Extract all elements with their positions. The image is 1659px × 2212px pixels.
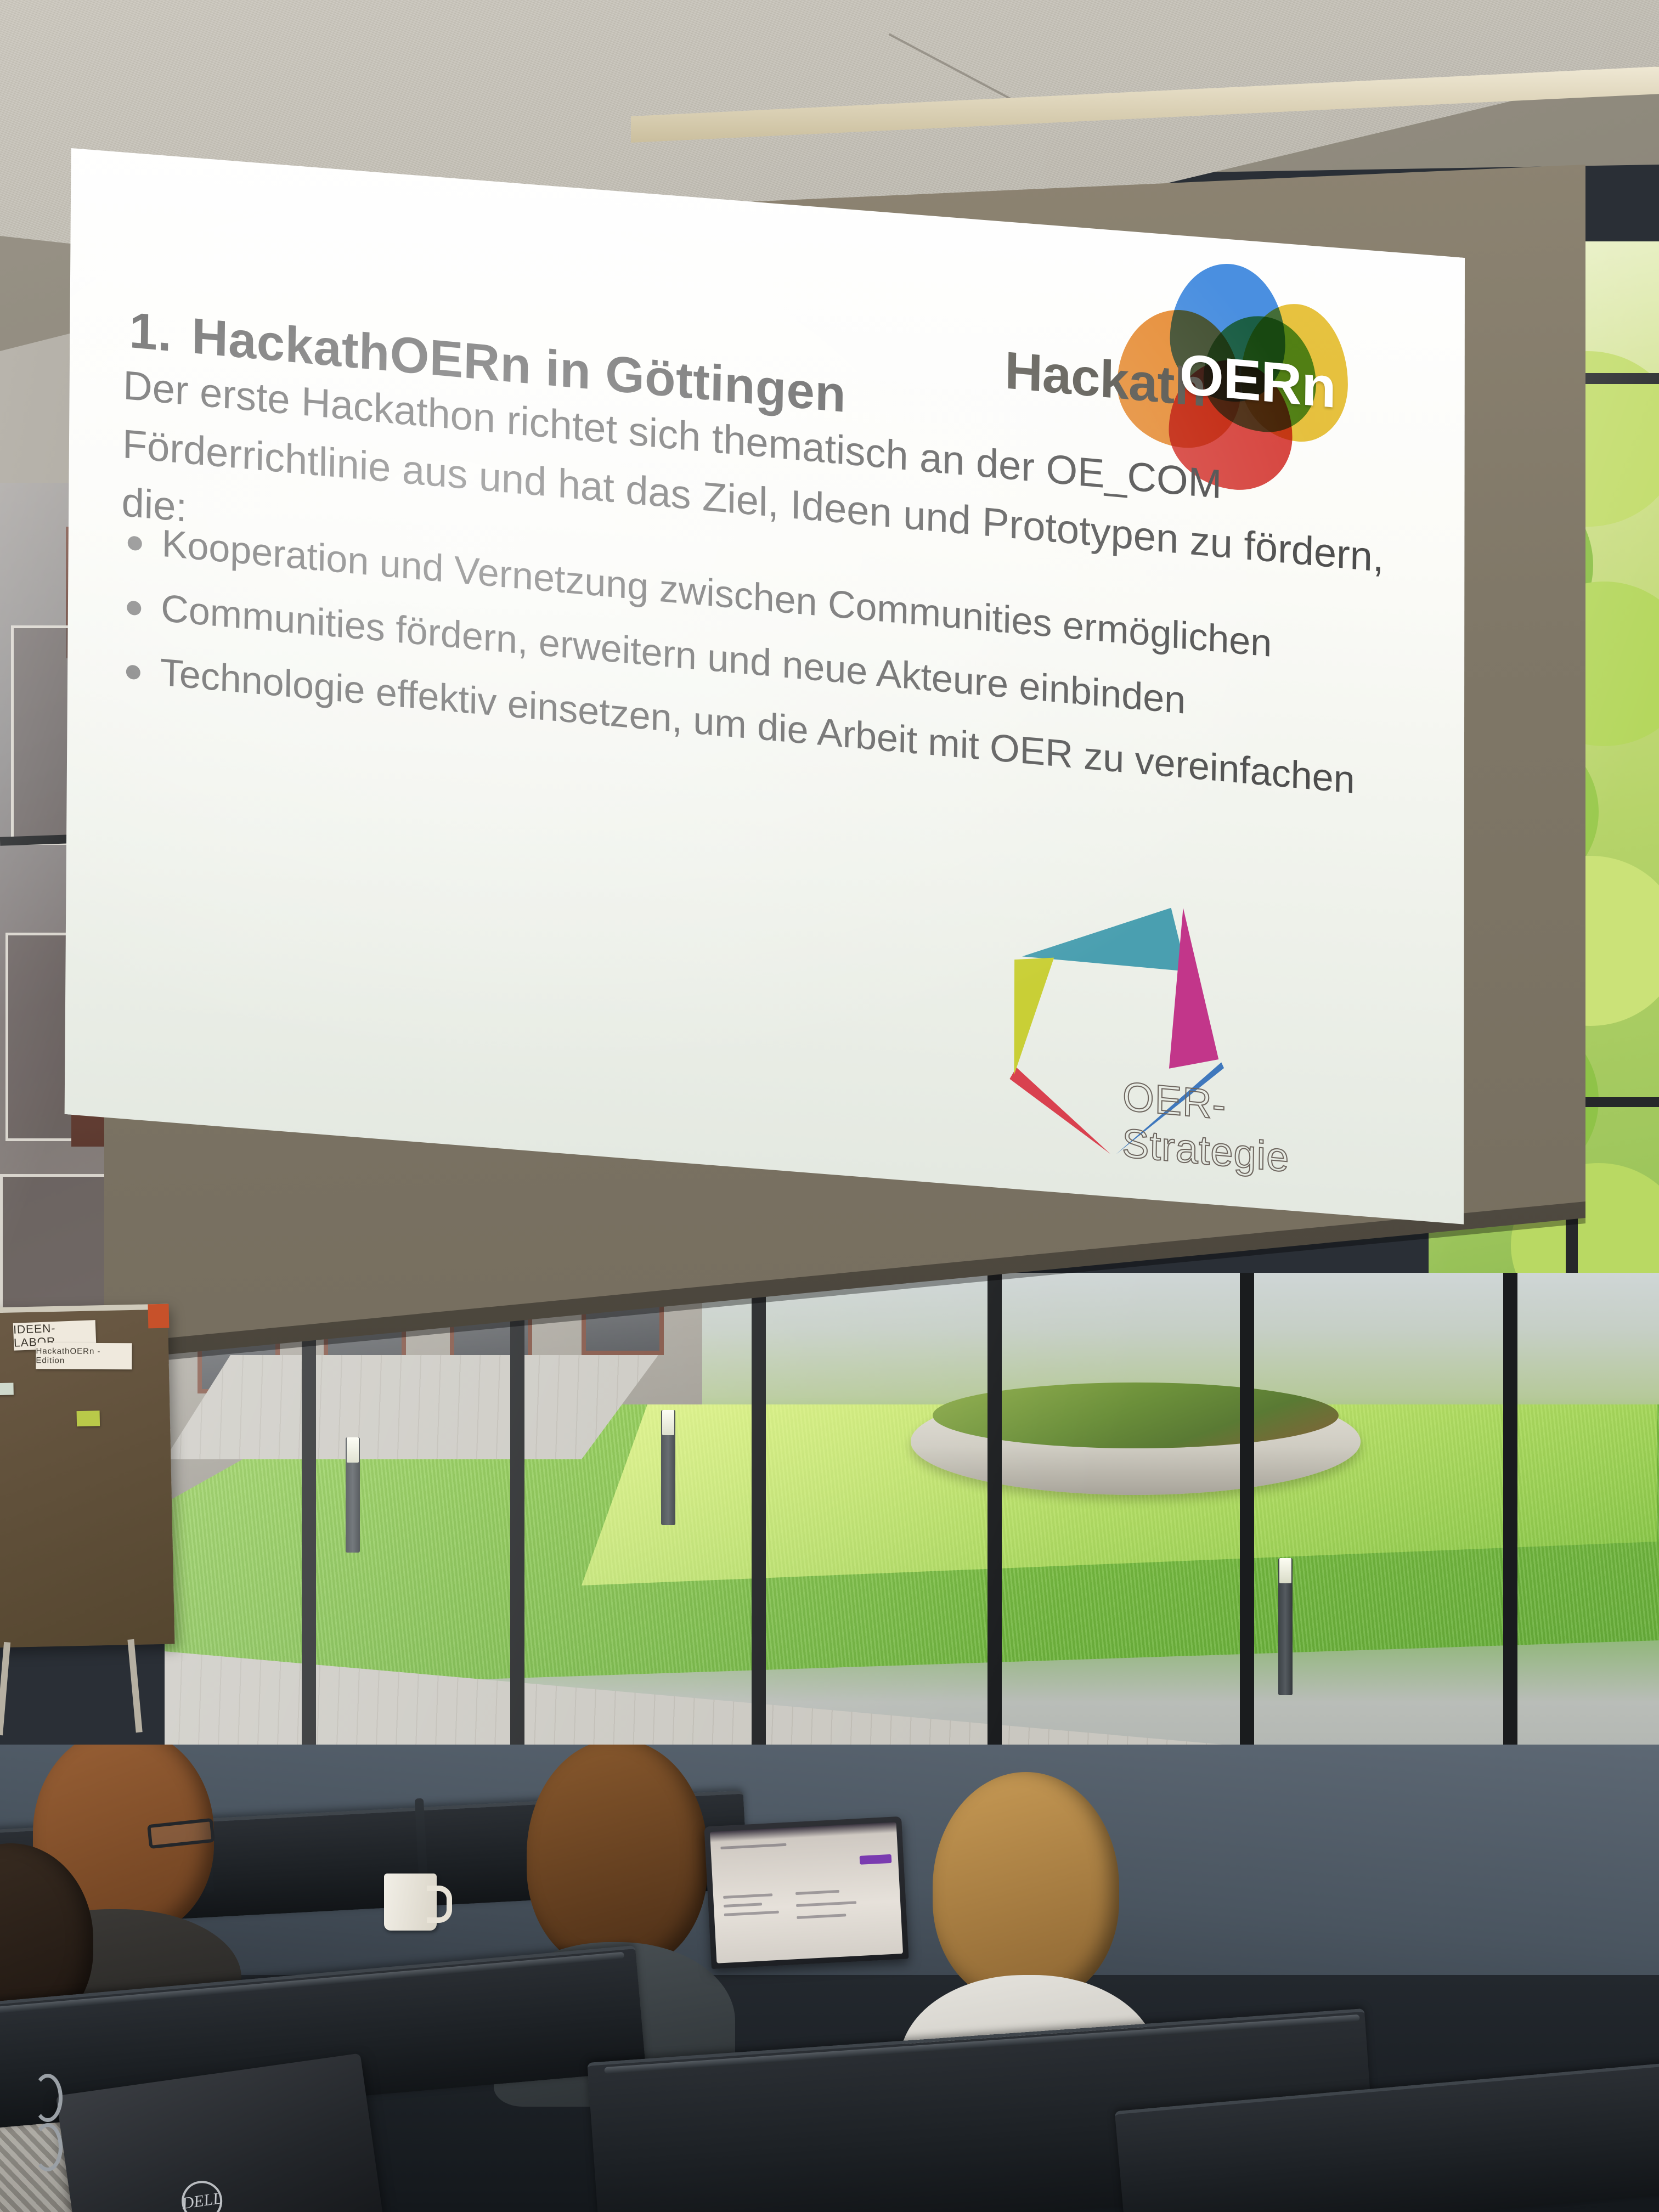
audience-person-ponytail xyxy=(527,1745,708,1970)
pinboard-ideen-labor: IDEEN-LABOR HackathOERn - Edition xyxy=(0,1304,174,1648)
slide-title-number: 1. xyxy=(129,302,172,362)
pinboard-sign-edition: HackathOERn - Edition xyxy=(36,1342,132,1369)
binder-ring-icon xyxy=(33,2074,63,2122)
oer-strategie-logo: OER-Strategie xyxy=(986,857,1396,1201)
binder-ring-icon xyxy=(33,2123,63,2171)
coffee-mug xyxy=(384,1874,437,1931)
bollard-light-1 xyxy=(346,1437,360,1553)
dell-logo-icon: DELL xyxy=(179,2178,225,2212)
pinboard-corner xyxy=(148,1304,169,1329)
projected-slide: Hackath OERn 1.HackathOERn in Göttingen … xyxy=(59,132,1476,1241)
lecture-hall-seating: DELL xyxy=(0,1745,1659,2212)
bollard-light-3 xyxy=(1278,1558,1293,1695)
sticky-note-1 xyxy=(0,1383,14,1396)
laptop-screen xyxy=(710,1822,903,1963)
bullet-dot-icon xyxy=(128,535,142,551)
bullet-dot-icon xyxy=(126,664,140,680)
audience-person-blond xyxy=(933,1772,1119,2002)
lecture-hall-scene: Hackath OERn 1.HackathOERn in Göttingen … xyxy=(0,0,1659,2212)
open-laptop[interactable] xyxy=(704,1816,909,1969)
bullet-dot-icon xyxy=(127,600,141,616)
projection-screen-assembly: Hackath OERn 1.HackathOERn in Göttingen … xyxy=(104,165,1585,1437)
sticky-note-2 xyxy=(77,1410,100,1426)
